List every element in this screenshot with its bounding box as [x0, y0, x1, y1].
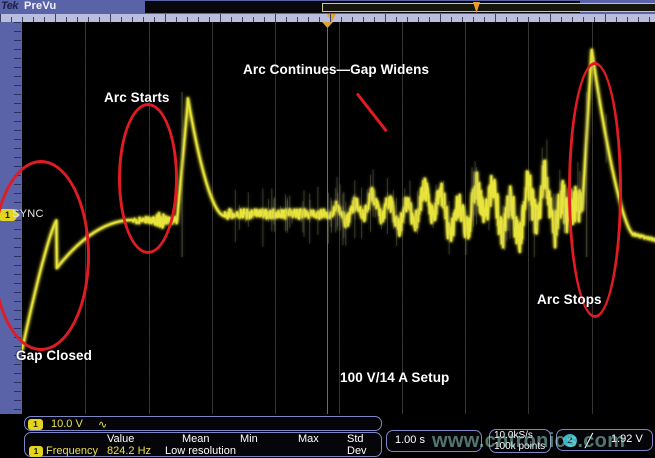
trigger-readout[interactable]: 2 ╱ 1.92 V — [556, 429, 653, 451]
record-window-bracket[interactable] — [322, 3, 655, 12]
rail-tick — [14, 157, 21, 158]
rail-tick — [14, 373, 21, 374]
ruler-tick — [440, 14, 441, 22]
tek-logo: Tek — [1, 0, 18, 12]
rail-tick — [14, 58, 21, 59]
vertical-scale-value: 10.0 V — [51, 418, 83, 430]
measure-header-mean: Mean — [182, 433, 210, 445]
measure-header-value: Value — [107, 433, 134, 445]
rail-tick — [14, 148, 21, 149]
ruler-tick — [550, 14, 551, 22]
ruler-tick — [0, 14, 1, 22]
rail-tick — [14, 400, 21, 401]
rail-tick — [14, 103, 21, 104]
rail-tick — [14, 391, 21, 392]
annotation-arc-starts: Arc Starts — [104, 90, 170, 105]
rail-tick — [14, 139, 21, 140]
vertical-channel-badge: 1 — [28, 419, 43, 430]
ruler-tick — [605, 14, 606, 22]
rail-tick — [14, 31, 21, 32]
rail-tick — [14, 67, 21, 68]
annotation-gap-closed: Gap Closed — [16, 348, 92, 363]
rail-tick — [14, 121, 21, 122]
annotation-arc-continues: Arc Continues—Gap Widens — [243, 62, 429, 77]
trigger-level-value: 1.92 V — [611, 433, 643, 445]
rail-tick — [14, 85, 21, 86]
rail-tick — [14, 22, 21, 23]
ruler-tick — [55, 14, 56, 22]
rail-tick — [14, 166, 21, 167]
rail-tick — [14, 382, 21, 383]
vertical-readout-channel-1[interactable]: 1 10.0 V ∿ — [24, 416, 382, 431]
measure-header-max: Max — [298, 433, 319, 445]
acquisition-readout[interactable]: 10.0kS/s 100k points — [489, 429, 551, 453]
annotation-arc-stops: Arc Stops — [537, 292, 602, 307]
graticule-area[interactable] — [22, 22, 655, 414]
rail-tick — [14, 76, 21, 77]
title-bar: Tek PreVu — [0, 0, 655, 14]
ruler-tick — [385, 14, 386, 22]
rising-edge-icon: ╱ — [585, 433, 593, 449]
record-length-overview[interactable] — [145, 1, 580, 13]
horizontal-scale-readout[interactable]: 1.00 s — [386, 430, 482, 452]
ruler-tick — [165, 14, 166, 22]
rail-tick — [14, 409, 21, 410]
highlight-ellipse-arc-stops — [568, 62, 622, 318]
ruler-tick — [275, 14, 276, 22]
measure-header-min: Min — [240, 433, 258, 445]
highlight-ellipse-arc-starts — [118, 103, 178, 254]
ruler-tick — [495, 14, 496, 22]
rail-tick — [14, 364, 21, 365]
measure-row-value: 824.2 Hz — [107, 445, 151, 457]
measure-row-badge: 1 — [29, 446, 43, 457]
measure-row-name: Frequency — [46, 445, 98, 457]
rail-tick — [14, 346, 21, 347]
ruler-tick — [330, 14, 331, 22]
ruler-trigger-icon[interactable] — [327, 14, 336, 22]
measure-row-note: Low resolution — [165, 445, 236, 457]
rail-tick — [14, 112, 21, 113]
oscilloscope-screen: Tek PreVu 1 SYNC G — [0, 0, 655, 458]
rail-tick — [14, 130, 21, 131]
horizontal-position-ruler[interactable] — [0, 14, 655, 22]
rail-tick — [14, 40, 21, 41]
prevu-status: PreVu — [24, 0, 56, 12]
sample-rate: 10.0kS/s — [494, 430, 533, 441]
trigger-source-badge: 2 — [563, 434, 577, 447]
ruler-tick — [110, 14, 111, 22]
ruler-tick — [220, 14, 221, 22]
coupling-icon: ∿ — [98, 418, 107, 431]
annotation-setup: 100 V/14 A Setup — [340, 370, 449, 385]
measure-header-stddev: Std Dev — [347, 433, 381, 457]
waveform-trace — [22, 22, 655, 414]
measurement-table[interactable]: Value Mean Min Max Std Dev 1 Frequency 8… — [24, 432, 382, 457]
rail-tick — [14, 94, 21, 95]
time-per-division: 1.00 s — [395, 434, 425, 446]
record-length: 100k points — [494, 441, 545, 452]
rail-tick — [14, 49, 21, 50]
